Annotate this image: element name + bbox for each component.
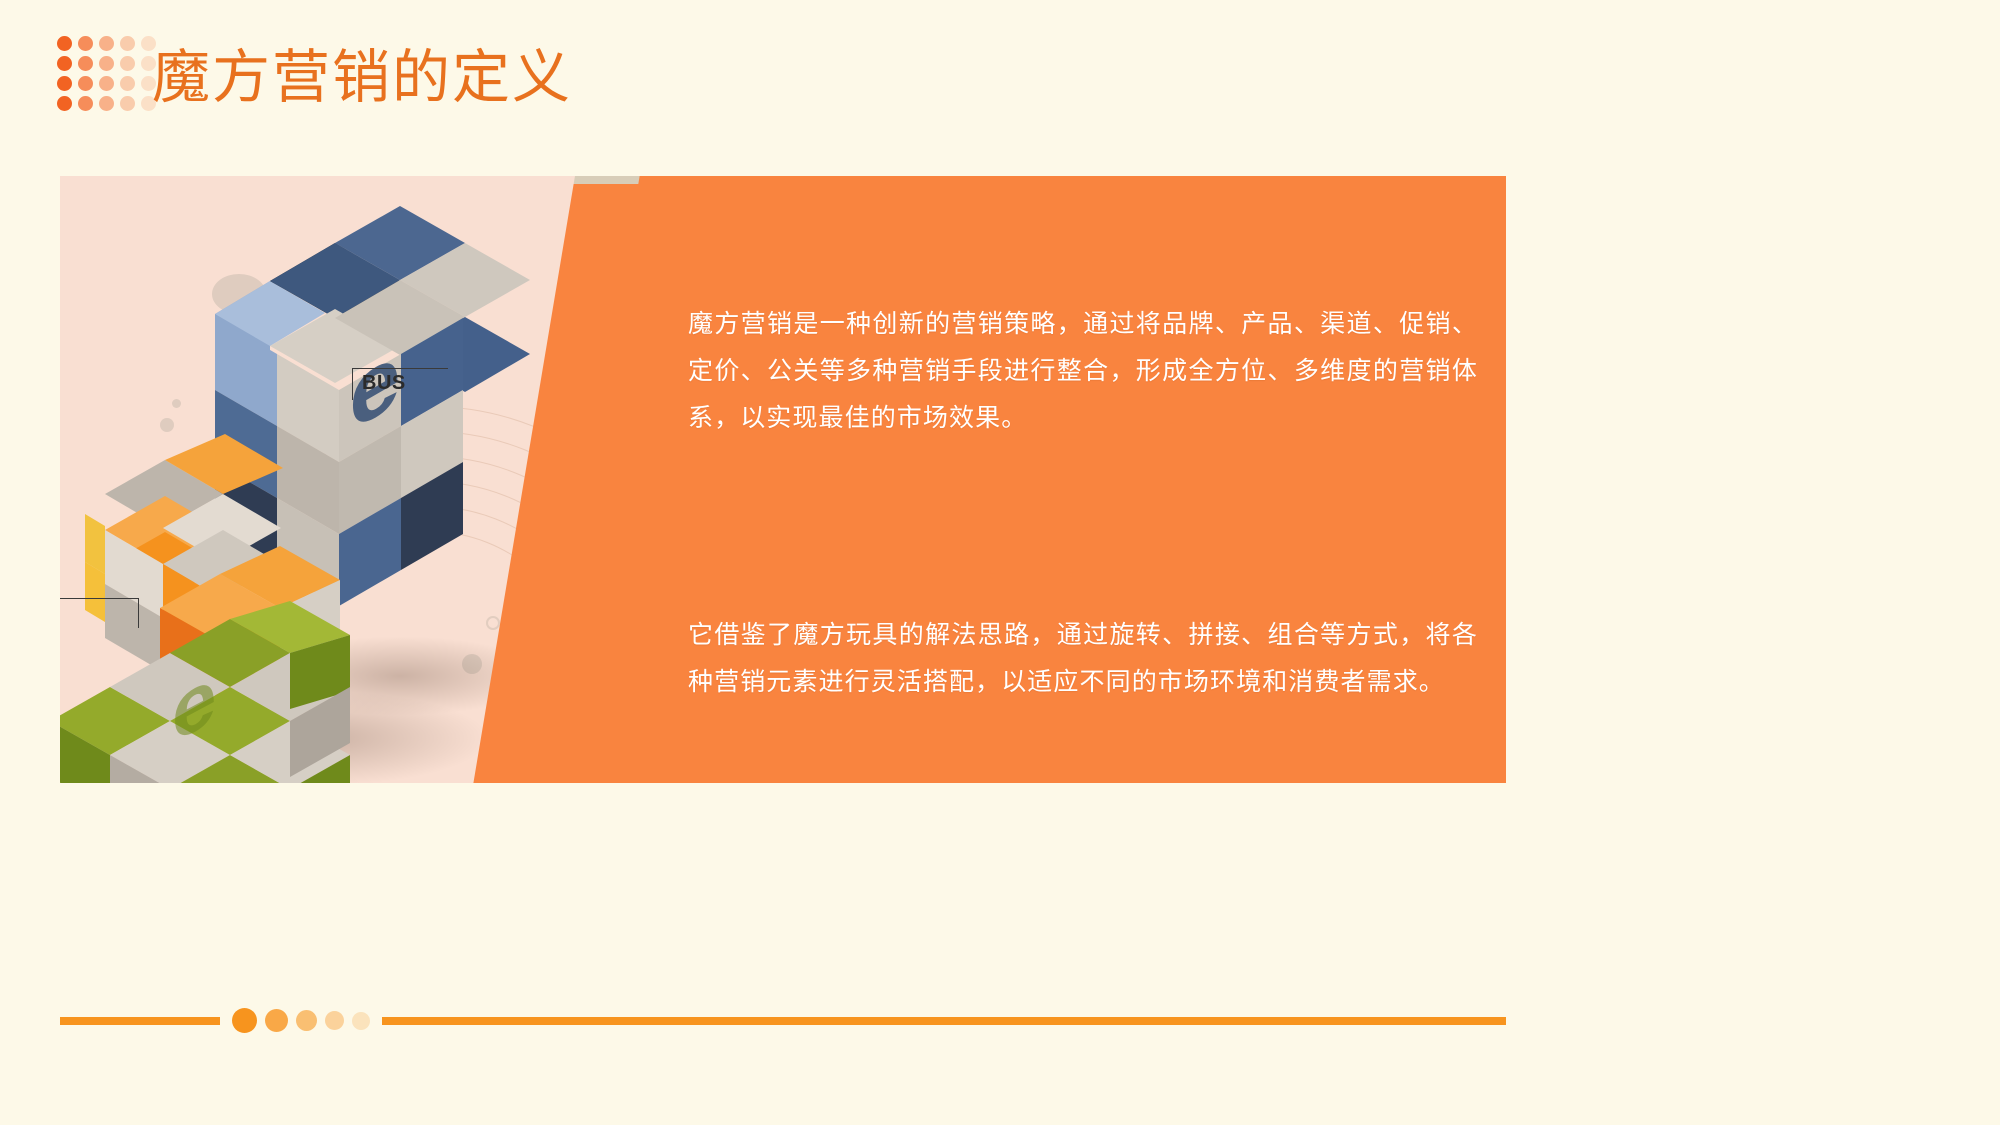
- paragraph-analogy: 它借鉴了魔方玩具的解法思路，通过旋转、拼接、组合等方式，将各种营销元素进行灵活搭…: [688, 612, 1478, 706]
- progress-dots: [232, 1008, 370, 1033]
- progress-indicator: [60, 1008, 1506, 1034]
- progress-line-right: [382, 1017, 1506, 1025]
- deco-ring: [486, 616, 500, 630]
- illustration-panel: e: [60, 176, 580, 783]
- progress-dot-4[interactable]: [325, 1011, 344, 1030]
- deco-circle: [160, 418, 174, 432]
- leader-line-s: [60, 598, 138, 599]
- page-title: 魔方营销的定义: [152, 40, 572, 116]
- progress-dot-2[interactable]: [265, 1009, 288, 1032]
- body-text-block: 魔方营销是一种创新的营销策略，通过将品牌、产品、渠道、促销、定价、公关等多种营销…: [688, 301, 1478, 706]
- progress-dot-5[interactable]: [352, 1012, 370, 1030]
- leader-line-s-drop: [138, 598, 139, 628]
- progress-dot-1[interactable]: [232, 1008, 257, 1033]
- decorative-dot-grid-icon: [57, 36, 162, 116]
- paragraph-definition: 魔方营销是一种创新的营销策略，通过将品牌、产品、渠道、促销、定价、公关等多种营销…: [688, 301, 1478, 442]
- progress-line-left: [60, 1017, 220, 1025]
- progress-dot-3[interactable]: [296, 1010, 317, 1031]
- leader-line-bus-drop: [352, 368, 353, 400]
- leader-line-bus: [352, 368, 448, 369]
- slide-root: 魔方营销的定义: [0, 0, 2000, 1125]
- content-panel: e: [60, 176, 1506, 783]
- slide-header: 魔方营销的定义: [0, 0, 2000, 170]
- label-bus: BUS: [362, 372, 406, 395]
